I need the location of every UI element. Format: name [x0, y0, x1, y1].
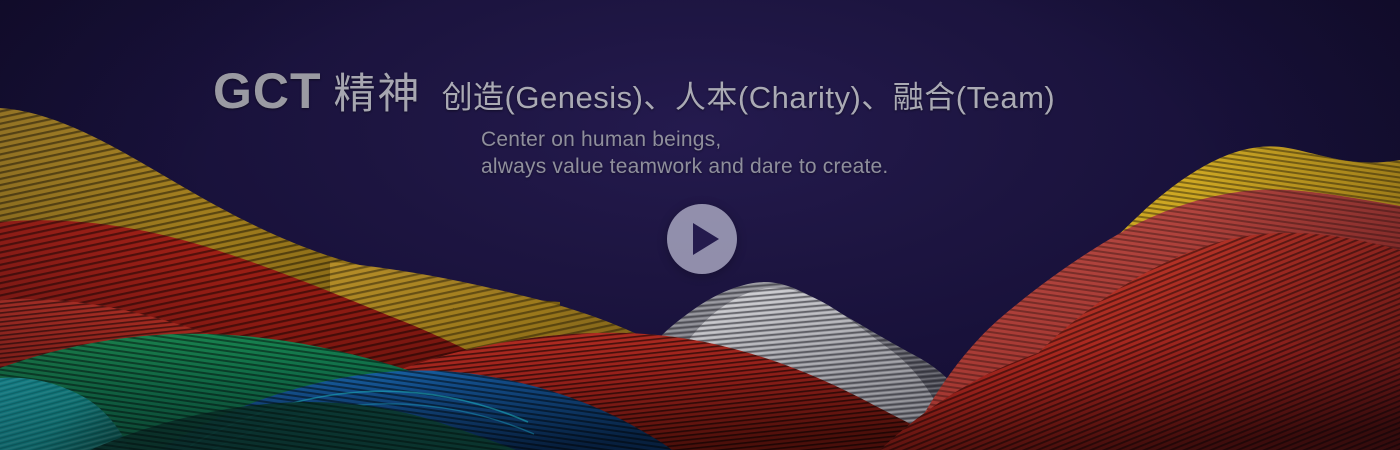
subtitle: Center on human beings, always value tea… [481, 126, 888, 180]
headline-values-text: 创造(Genesis)、人本(Charity)、融合(Team) [442, 82, 1056, 113]
play-triangle-icon [693, 223, 719, 255]
subtitle-line-1: Center on human beings, [481, 126, 888, 153]
play-video-button[interactable] [667, 204, 737, 274]
logo-gct-text: GCT [213, 66, 322, 116]
gct-spirit-hero-banner: GCT 精神 创造(Genesis)、人本(Charity)、融合(Team) … [0, 0, 1400, 450]
headline: GCT 精神 创造(Genesis)、人本(Charity)、融合(Team) [213, 66, 1055, 118]
logo-chinese-text: 精神 [334, 73, 422, 115]
subtitle-line-2: always value teamwork and dare to create… [481, 153, 888, 180]
